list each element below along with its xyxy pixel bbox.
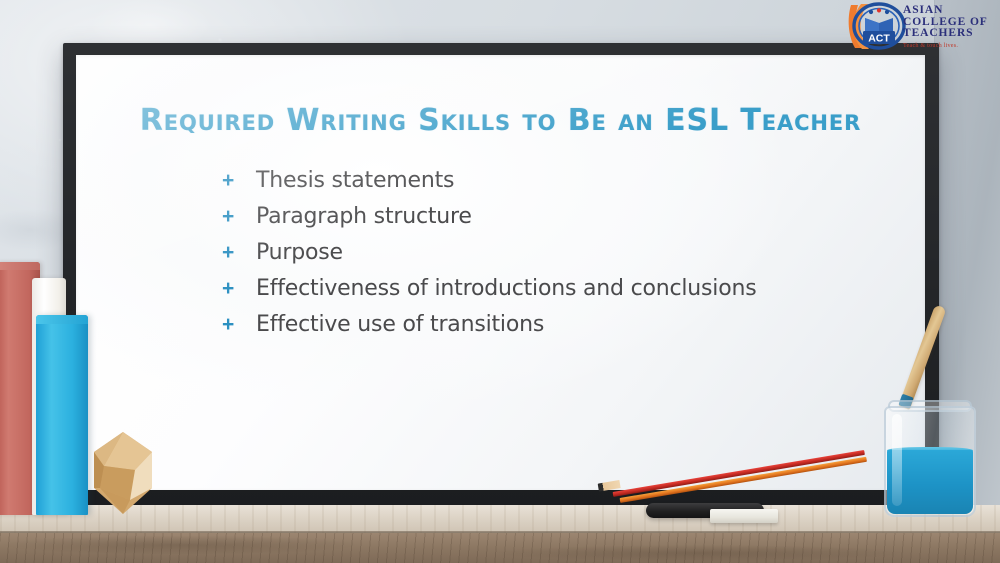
wooden-polyhedron-ornament: [80, 430, 166, 516]
list-item-label: Effective use of transitions: [256, 312, 544, 338]
list-item: + Paragraph structure: [222, 204, 885, 230]
desk-front-grain: [0, 533, 1000, 563]
list-item-label: Thesis statements: [256, 168, 454, 194]
bullet-list: + Thesis statements + Paragraph structur…: [222, 168, 885, 338]
list-item: + Purpose: [222, 240, 885, 266]
svg-text:ACT: ACT: [868, 32, 890, 44]
logo-tagline: Teach & touch lives.: [903, 42, 1000, 49]
whiteboard-frame: Required Writing Skills to Be an ESL Tea…: [63, 43, 939, 505]
list-item: + Thesis statements: [222, 168, 885, 194]
logo-wordmark: ASIAN COLLEGE OF TEACHERS Teach & touch …: [903, 5, 1000, 49]
list-item-label: Paragraph structure: [256, 204, 472, 230]
book-red-top: [0, 262, 40, 270]
logo-line-1: ASIAN: [903, 5, 1000, 17]
list-item: + Effective use of transitions: [222, 312, 885, 338]
plus-icon: +: [222, 314, 256, 335]
plus-icon: +: [222, 278, 256, 299]
white-eraser: [710, 509, 778, 523]
act-emblem-icon: ACT: [845, 2, 907, 50]
slide-content: Required Writing Skills to Be an ESL Tea…: [76, 55, 925, 490]
plus-icon: +: [222, 206, 256, 227]
whiteboard-surface: Required Writing Skills to Be an ESL Tea…: [76, 55, 925, 490]
glass-jar: [884, 392, 976, 517]
list-item: + Effectiveness of introductions and con…: [222, 276, 885, 302]
desk-front-panel: [0, 533, 1000, 563]
list-item-label: Purpose: [256, 240, 343, 266]
jar-highlight: [892, 414, 902, 506]
book-blue-top: [36, 315, 88, 324]
plus-icon: +: [222, 170, 256, 191]
logo-line-3: TEACHERS: [903, 28, 1000, 40]
page-title: Required Writing Skills to Be an ESL Tea…: [76, 103, 925, 138]
list-item-label: Effectiveness of introductions and concl…: [256, 276, 757, 302]
asian-college-of-teachers-logo: ACT ASIAN COLLEGE OF TEACHERS Teach & to…: [845, 1, 1000, 53]
plus-icon: +: [222, 242, 256, 263]
